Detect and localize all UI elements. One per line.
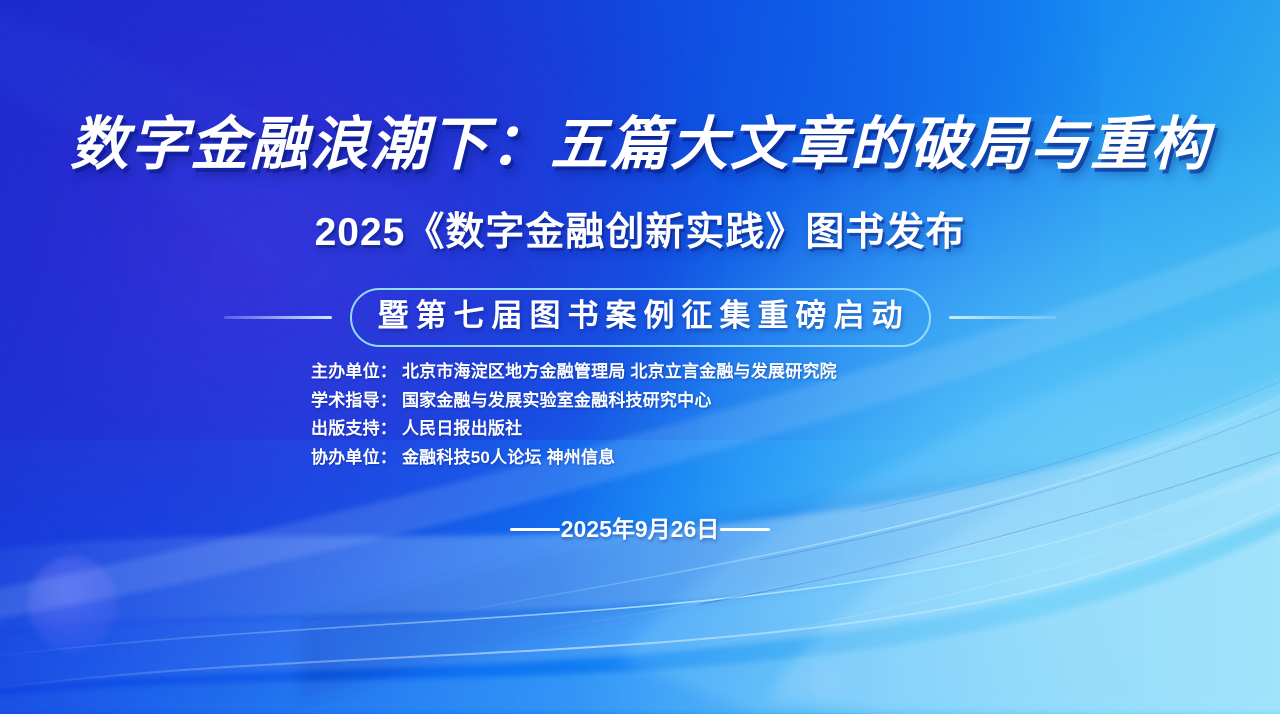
date-rule-left [510,528,560,531]
list-item: 主办单位： 北京市海淀区地方金融管理局 北京立言金融与发展研究院 [311,358,837,387]
highlight-banner-row: 暨第七届图书案例征集重磅启动 [0,288,1280,347]
date-rule-right [720,528,770,531]
organizer-value: 国家金融与发展实验室金融科技研究中心 [402,391,712,410]
banner-rule-left [224,316,332,319]
highlight-banner-label: 暨第七届图书案例征集重磅启动 [378,296,910,336]
organizer-label: 出版支持： [311,419,397,438]
organizer-label: 主办单位： [311,362,397,381]
highlight-banner: 暨第七届图书案例征集重磅启动 [350,288,931,347]
list-item: 出版支持： 人民日报出版社 [311,415,837,444]
organizer-value: 北京市海淀区地方金融管理局 北京立言金融与发展研究院 [402,362,837,381]
banner-rule-right [949,316,1057,319]
event-date-row: 2025年9月26日 [0,514,1280,544]
list-item: 学术指导： 国家金融与发展实验室金融科技研究中心 [311,387,837,416]
organizer-label: 协办单位： [311,448,397,467]
organizer-label: 学术指导： [311,391,397,410]
event-date: 2025年9月26日 [560,514,721,544]
poster-content: 数字金融浪潮下：五篇大文章的破局与重构 2025《数字金融创新实践》图书发布 暨… [0,0,1280,714]
page-subtitle: 2025《数字金融创新实践》图书发布 [0,208,1280,258]
list-item: 协办单位： 金融科技50人论坛 神州信息 [311,444,837,473]
organizer-value: 人民日报出版社 [402,419,522,438]
page-title: 数字金融浪潮下：五篇大文章的破局与重构 [0,108,1280,180]
event-poster: 数字金融浪潮下：五篇大文章的破局与重构 2025《数字金融创新实践》图书发布 暨… [0,0,1280,714]
organizer-list: 主办单位： 北京市海淀区地方金融管理局 北京立言金融与发展研究院 学术指导： 国… [311,358,837,472]
organizer-value: 金融科技50人论坛 神州信息 [402,448,615,467]
